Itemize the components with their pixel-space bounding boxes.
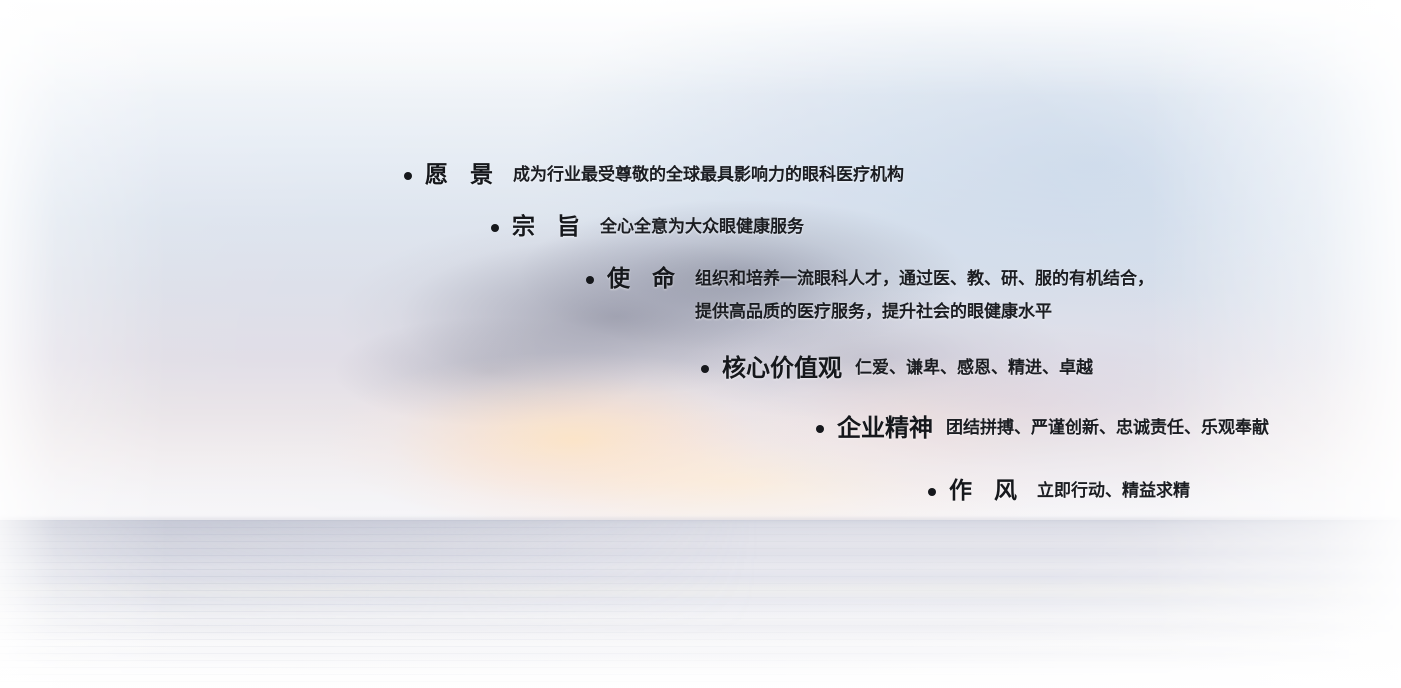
culture-banner: 愿 景 成为行业最受尊敬的全球最具影响力的眼科医疗机构 宗 旨 全心全意为大众眼… <box>0 0 1401 688</box>
statement-body-mission: 组织和培养一流眼科人才，通过医、教、研、服的有机结合，提供高品质的医疗服务，提升… <box>695 264 1154 329</box>
statement-mission: 使 命 组织和培养一流眼科人才，通过医、教、研、服的有机结合，提供高品质的医疗服… <box>586 264 1154 329</box>
statement-vision: 愿 景 成为行业最受尊敬的全球最具影响力的眼科医疗机构 <box>404 160 904 191</box>
statement-body-corporate-spirit: 团结拼搏、严谨创新、忠诚责任、乐观奉献 <box>946 413 1269 444</box>
statement-body-mission-line2: 提供高品质的医疗服务，提升社会的眼健康水平 <box>695 295 1154 329</box>
bullet-icon <box>404 172 412 180</box>
statement-label-core-values: 核心价值观 <box>722 353 842 384</box>
bullet-icon <box>586 276 594 284</box>
bullet-icon <box>491 224 499 232</box>
statement-label-purpose: 宗 旨 <box>512 212 587 243</box>
statement-label-vision: 愿 景 <box>425 160 500 191</box>
statement-body-core-values: 仁爱、谦卑、感恩、精进、卓越 <box>855 353 1093 384</box>
statement-work-style: 作 风 立即行动、精益求精 <box>928 476 1190 507</box>
bullet-icon <box>928 488 936 496</box>
statement-label-mission: 使 命 <box>607 264 682 295</box>
statement-label-corporate-spirit: 企业精神 <box>837 413 933 444</box>
statement-body-mission-line1: 组织和培养一流眼科人才，通过医、教、研、服的有机结合， <box>695 269 1154 289</box>
statement-label-work-style: 作 风 <box>949 476 1024 507</box>
culture-statement-list: 愿 景 成为行业最受尊敬的全球最具影响力的眼科医疗机构 宗 旨 全心全意为大众眼… <box>0 0 1401 688</box>
statement-body-work-style: 立即行动、精益求精 <box>1037 476 1190 507</box>
statement-purpose: 宗 旨 全心全意为大众眼健康服务 <box>491 212 804 243</box>
statement-corporate-spirit: 企业精神 团结拼搏、严谨创新、忠诚责任、乐观奉献 <box>816 413 1269 444</box>
bullet-icon <box>816 425 824 433</box>
bullet-icon <box>701 365 709 373</box>
statement-core-values: 核心价值观 仁爱、谦卑、感恩、精进、卓越 <box>701 353 1093 384</box>
statement-body-purpose: 全心全意为大众眼健康服务 <box>600 212 804 243</box>
statement-body-vision: 成为行业最受尊敬的全球最具影响力的眼科医疗机构 <box>513 160 904 191</box>
